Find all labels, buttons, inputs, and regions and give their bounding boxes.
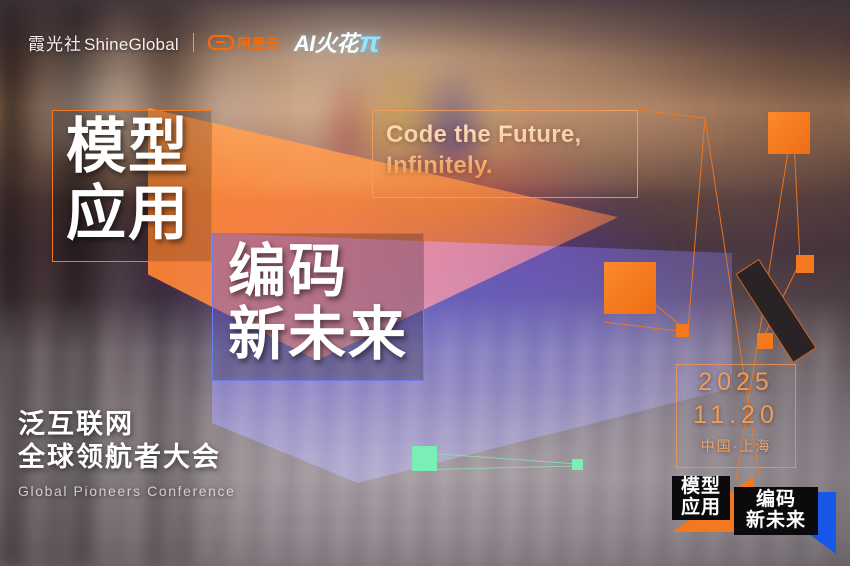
decorative-square-small-a [676,324,689,337]
event-date-block: 2025 11.20 中国·上海 [676,366,796,456]
partner-logo-label: 阿里云 [238,33,280,52]
conference-name-line1: 泛互联网 [18,408,235,441]
ai-spark-label: AI火花 [294,26,358,58]
decorative-square-mint-b [572,459,583,470]
tag-primary-text: 模型 应用 [66,118,190,244]
slogan-text: Code the Future, Infinitely. [386,120,581,181]
alibaba-cloud-icon[interactable]: 阿里云 [208,33,280,52]
decorative-square-small-b [796,255,814,273]
badge-secondary-line2: 新未来 [746,511,806,532]
logo-divider [193,33,194,52]
badge-secondary: 编码 新未来 [734,487,818,535]
decorative-square-mint-a [412,446,437,471]
badge-primary-line2: 应用 [681,498,721,519]
alibaba-cloud-mark [208,35,234,50]
tag-primary-line1: 模型 [66,118,190,177]
brand-name-en: ShineGlobal [84,35,179,55]
tag-secondary-line1: 编码 [228,244,408,301]
conference-name-line2: 全球领航者大会 [18,441,235,474]
badge-primary: 模型 应用 [672,476,730,520]
pi-symbol-icon: π [359,29,380,56]
event-year: 2025 [676,366,796,399]
badge-primary-line1: 模型 [681,477,721,498]
header-logo-strip: 霞光社 ShineGlobal 阿里云 AI火花 π [28,26,380,58]
tag-secondary-line2: 新未来 [228,307,408,364]
brand-shineglobal[interactable]: 霞光社 ShineGlobal [28,30,179,55]
tag-secondary-text: 编码 新未来 [228,244,408,364]
event-day: 11.20 [676,399,796,432]
event-location: 中国·上海 [676,436,796,456]
slogan-line2: Infinitely. [386,151,581,182]
poster-canvas: 霞光社 ShineGlobal 阿里云 AI火花 π 模型 应用 编码 新未来 … [0,0,850,566]
slogan-line1: Code the Future, [386,120,581,151]
decorative-square-center [604,262,656,314]
decorative-square-small-c [757,333,773,349]
tag-primary-line2: 应用 [66,185,190,244]
badge-secondary-line1: 编码 [756,490,796,511]
conference-title-block: 泛互联网 全球领航者大会 Global Pioneers Conference [18,408,235,499]
brand-name-cn: 霞光社 [28,30,82,55]
decorative-square-topright [768,112,810,154]
ai-spark-logo[interactable]: AI火花 π [294,26,380,58]
conference-name-en: Global Pioneers Conference [18,483,235,499]
